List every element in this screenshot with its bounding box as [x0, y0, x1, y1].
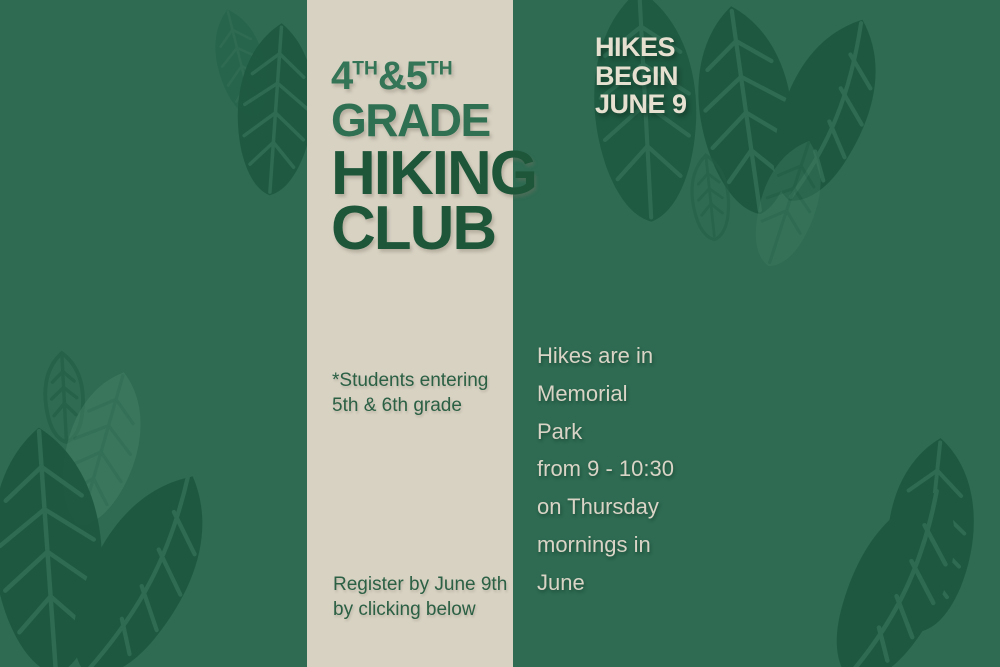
center-panel-content: 4TH&5TH GRADE HIKING CLUB *Students ente… — [307, 0, 513, 667]
headline-block: 4TH&5TH GRADE HIKING CLUB — [331, 58, 531, 257]
register-line2[interactable]: by clicking below — [333, 597, 523, 622]
poster-canvas: 4TH&5TH GRADE HIKING CLUB *Students ente… — [0, 0, 1000, 667]
leaf-top-right-e — [688, 153, 732, 241]
details-line7: June — [537, 564, 767, 602]
leaf-bottom-left-big — [0, 424, 110, 667]
leaf-top-right-d — [742, 132, 835, 274]
details-line3: Park — [537, 413, 767, 451]
register-line1: Register by June 9th — [333, 572, 523, 597]
grade-sup-th-1: TH — [352, 59, 378, 80]
details-line1: Hikes are in — [537, 337, 767, 375]
details-line5: on Thursday — [537, 488, 767, 526]
center-panel: 4TH&5TH GRADE HIKING CLUB *Students ente… — [307, 0, 513, 667]
grade-num-4: 4 — [331, 54, 352, 98]
eligibility-note-line1: *Students entering — [332, 368, 522, 393]
hikes-begin-line2: BEGIN — [595, 62, 775, 91]
leaf-bottom-left-light — [46, 363, 157, 535]
hikes-begin-line3: JUNE 9 — [595, 90, 775, 119]
leaf-bottom-right-curved — [811, 471, 984, 667]
headline-club: CLUB — [331, 200, 531, 257]
leaf-bottom-left-outline — [43, 352, 85, 443]
eligibility-note-line2: 5th & 6th grade — [332, 393, 522, 418]
hikes-begin-badge: HIKES BEGIN JUNE 9 — [595, 33, 775, 119]
grade-ampersand-5: &5 — [378, 54, 427, 98]
leaf-top-left-a — [205, 4, 277, 122]
details-line4: from 9 - 10:30 — [537, 450, 767, 488]
leaf-bottom-left-curved — [45, 454, 234, 667]
headline-grade: GRADE — [331, 99, 531, 141]
grade-sup-th-2: TH — [427, 59, 453, 80]
leaf-bottom-right-upright — [878, 434, 983, 636]
hikes-begin-line1: HIKES — [595, 33, 775, 62]
eligibility-note: *Students entering 5th & 6th grade — [332, 368, 522, 418]
headline-grade-prefix: 4TH&5TH — [331, 58, 531, 95]
details-line2: Memorial — [537, 375, 767, 413]
register-callout: Register by June 9th by clicking below — [333, 572, 523, 623]
details-line6: mornings in — [537, 526, 767, 564]
details-body-copy: Hikes are in Memorial Park from 9 - 10:3… — [537, 337, 767, 602]
